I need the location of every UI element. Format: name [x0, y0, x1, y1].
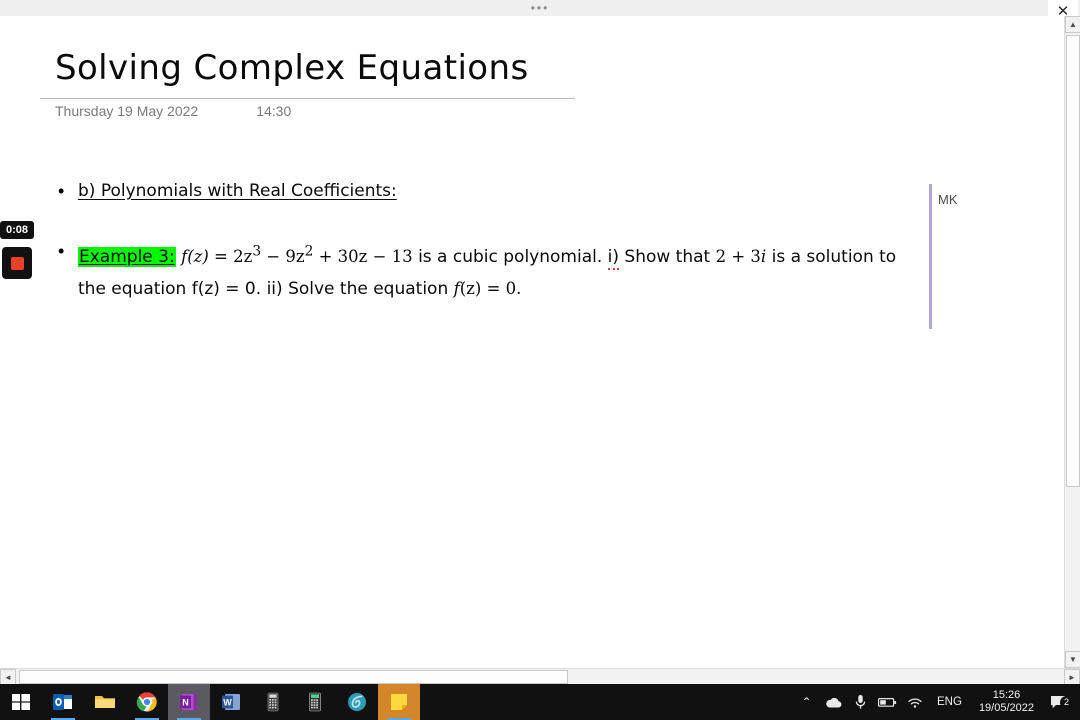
function-definition: f(z) = 2z3 − 9z2 + 30z − 13 — [181, 247, 413, 266]
example-paragraph: Example 3: f(z) = 2z3 − 9z2 + 30z − 13 i… — [78, 247, 896, 299]
sentence-solve: Solve the equation — [288, 279, 448, 299]
svg-text:N: N — [182, 697, 189, 707]
bullet-marker: • — [58, 176, 78, 206]
horizontal-scrollbar-thumb[interactable] — [19, 670, 568, 684]
windows-logo-icon — [10, 691, 32, 713]
stop-recording-button[interactable] — [2, 247, 32, 279]
notifications-button[interactable]: 2 — [1042, 694, 1074, 711]
calculator-green-taskbar-button[interactable] — [294, 684, 336, 720]
battery-icon[interactable] — [874, 697, 901, 708]
page-date: Thursday 19 May 2022 — [55, 103, 198, 119]
horizontal-scrollbar[interactable]: ◄ ► — [0, 668, 1080, 684]
scroll-up-icon[interactable]: ▲ — [1065, 16, 1080, 33]
system-tray: ⌃ — [793, 684, 1080, 720]
scroll-down-icon[interactable]: ▼ — [1065, 651, 1080, 668]
sentence-show-that: Show that — [624, 247, 710, 267]
page-title[interactable]: Solving Complex Equations — [55, 48, 529, 88]
sticky-note-icon — [388, 691, 410, 713]
part-ii-label: ii) — [267, 279, 283, 299]
teal-app-taskbar-button[interactable] — [336, 684, 378, 720]
calculator-icon — [304, 691, 326, 713]
list-item[interactable]: • Example 3: f(z) = 2z3 − 9z2 + 30z − 13… — [58, 236, 928, 305]
onenote-window: ••• ✕ Joe @ Galway and Roscommon ETB > M… — [0, 0, 1080, 720]
clock[interactable]: 15:26 19/05/2022 — [971, 689, 1042, 715]
sentence-cubic: is a cubic polynomial. — [418, 247, 602, 267]
calculator-dark-taskbar-button[interactable] — [252, 684, 294, 720]
microphone-icon[interactable] — [847, 694, 874, 710]
note-body[interactable]: • b) Polynomials with Real Coefficients:… — [58, 176, 928, 335]
author-initials: MK — [938, 192, 958, 207]
bullet-marker: • — [58, 236, 78, 266]
clock-date: 19/05/2022 — [979, 702, 1034, 715]
vertical-scrollbar-thumb[interactable] — [1066, 35, 1080, 487]
root-value: 2 + 3i — [716, 247, 767, 266]
notification-count-badge: 2 — [1060, 696, 1073, 709]
language-indicator[interactable]: ENG — [928, 696, 971, 708]
stop-square-icon — [11, 257, 24, 270]
windows-taskbar: N W — [0, 684, 1080, 720]
word-taskbar-button[interactable]: W — [210, 684, 252, 720]
scroll-right-icon[interactable]: ► — [1064, 669, 1080, 685]
svg-text:W: W — [223, 697, 232, 707]
wifi-icon[interactable] — [901, 696, 928, 709]
window-titlebar: ••• — [0, 0, 1080, 16]
sticky-notes-taskbar-button[interactable] — [378, 684, 420, 720]
onenote-taskbar-button[interactable]: N — [168, 684, 210, 720]
scroll-left-icon[interactable]: ◄ — [0, 669, 16, 685]
outlook-taskbar-button[interactable] — [42, 684, 84, 720]
recording-timer: 0:08 — [0, 221, 34, 239]
part-i-label: i) — [608, 247, 619, 270]
calculator-icon — [262, 691, 284, 713]
author-indicator-bar — [929, 184, 932, 329]
page-metadata: Thursday 19 May 2022 14:30 — [55, 103, 291, 119]
word-icon: W — [220, 691, 242, 713]
page-time: 14:30 — [256, 103, 291, 119]
example-label-highlight: Example 3: — [78, 247, 176, 267]
list-item[interactable]: • b) Polynomials with Real Coefficients: — [58, 176, 928, 206]
outlook-icon — [52, 691, 74, 713]
chrome-taskbar-button[interactable] — [126, 684, 168, 720]
more-options-handle[interactable]: ••• — [519, 1, 561, 15]
chevron-up-icon[interactable]: ⌃ — [793, 695, 820, 709]
start-button[interactable] — [0, 684, 42, 720]
note-page-canvas[interactable]: Solving Complex Equations Thursday 19 Ma… — [0, 16, 1064, 684]
clock-time: 15:26 — [979, 689, 1034, 702]
folder-icon — [94, 691, 116, 713]
equation-fz-zero: f(z) = 0. — [454, 279, 522, 298]
title-divider — [40, 98, 575, 99]
onenote-icon: N — [178, 691, 200, 713]
section-heading: b) Polynomials with Real Coefficients: — [78, 181, 397, 201]
chrome-icon — [136, 691, 158, 713]
onedrive-cloud-icon[interactable] — [820, 696, 847, 709]
vertical-scrollbar[interactable]: ▲ ▼ — [1064, 16, 1080, 668]
swirl-icon — [346, 691, 368, 713]
file-explorer-taskbar-button[interactable] — [84, 684, 126, 720]
